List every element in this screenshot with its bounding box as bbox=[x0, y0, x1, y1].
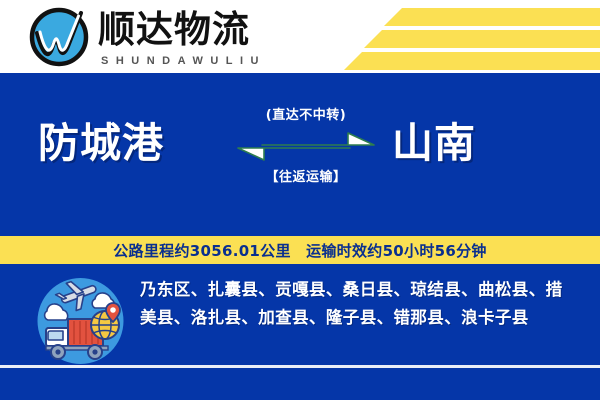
logistics-truck-globe-plane-icon bbox=[33, 275, 128, 367]
coverage-line-2: 美县、洛扎县、加查县、隆子县、错那县、浪卡子县 bbox=[140, 304, 588, 332]
brand-name-en: SHUNDAWULIU bbox=[98, 54, 266, 68]
coverage-district-list: 乃东区、扎囊县、贡嘎县、桑日县、琼结县、曲松县、措 美县、洛扎县、加查县、隆子县… bbox=[140, 276, 588, 332]
route-middle: (直达不中转) 【往返运输】 bbox=[236, 107, 376, 187]
logistics-route-banner: 顺达物流 SHUNDAWULIU 防城港 (直达不中转) 【往返运输】 山南 公… bbox=[0, 0, 600, 400]
diagonal-stripes-decor bbox=[340, 0, 600, 73]
route-info-bar: 公路里程约3056.01公里 运输时效约50小时56分钟 bbox=[0, 236, 600, 264]
coverage-line-1: 乃东区、扎囊县、贡嘎县、桑日县、琼结县、曲松县、措 bbox=[140, 276, 588, 304]
coverage-section: 乃东区、扎囊县、贡嘎县、桑日县、琼结县、曲松县、措 美县、洛扎县、加查县、隆子县… bbox=[0, 264, 600, 400]
banner-header: 顺达物流 SHUNDAWULIU bbox=[0, 0, 600, 73]
round-trip-note: 【往返运输】 bbox=[236, 169, 376, 187]
direct-note: (直达不中转) bbox=[236, 107, 376, 125]
destination-city: 山南 bbox=[392, 119, 476, 167]
origin-city: 防城港 bbox=[38, 119, 164, 167]
route-info-text: 公路里程约3056.01公里 运输时效约50小时56分钟 bbox=[113, 240, 486, 261]
swoosh-circle-logo-icon bbox=[28, 6, 90, 68]
brand-name-cn: 顺达物流 bbox=[98, 8, 266, 52]
brand-text: 顺达物流 SHUNDAWULIU bbox=[98, 6, 266, 68]
bidirectional-arrow-icon bbox=[236, 129, 376, 163]
route-section: 防城港 (直达不中转) 【往返运输】 山南 bbox=[0, 73, 600, 236]
bottom-spacer bbox=[0, 368, 600, 400]
brand-logo: 顺达物流 SHUNDAWULIU bbox=[28, 6, 266, 68]
